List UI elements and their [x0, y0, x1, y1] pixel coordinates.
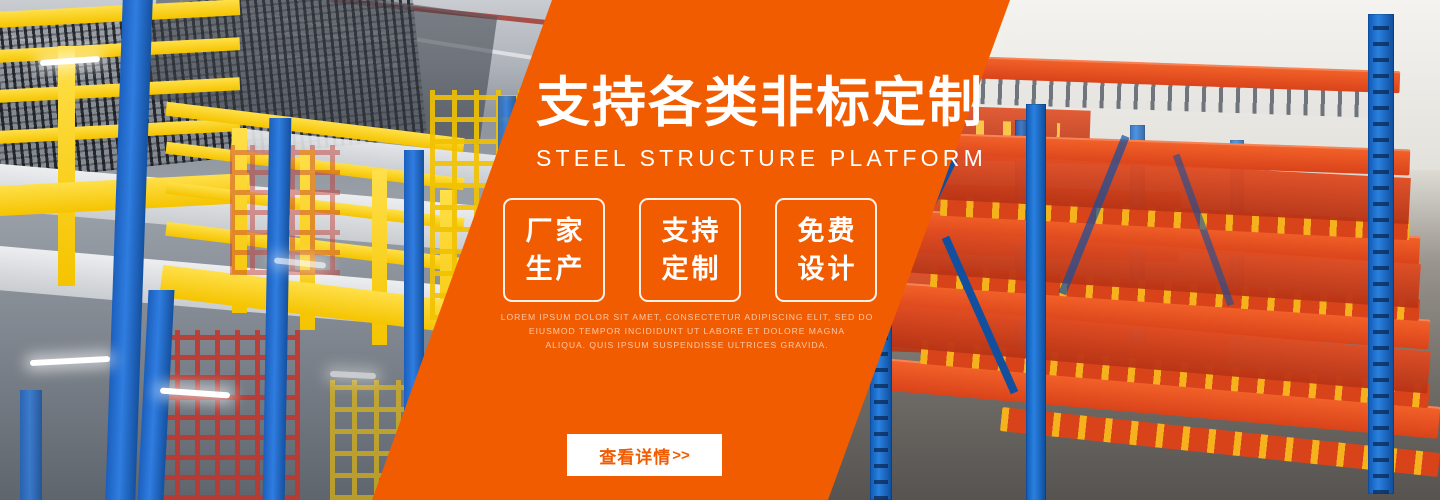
feature-badge-line1: 免费 — [795, 212, 858, 250]
description-line-2: EIUSMOD TEMPOR INCIDIDUNT UT LABORE ET D… — [492, 325, 882, 339]
feature-badge-line1: 厂家 — [523, 212, 586, 250]
banner-content: 支持各类非标定制 STEEL STRUCTURE PLATFORM 厂家 生产 … — [0, 0, 1440, 500]
feature-badge-line1: 支持 — [659, 212, 722, 250]
feature-badge-custom-support: 支持 定制 — [639, 198, 741, 302]
feature-badge-free-design: 免费 设计 — [775, 198, 877, 302]
feature-badge-list: 厂家 生产 支持 定制 免费 设计 — [503, 198, 877, 302]
promo-banner: 支持各类非标定制 STEEL STRUCTURE PLATFORM 厂家 生产 … — [0, 0, 1440, 500]
feature-badge-line2: 定制 — [659, 250, 722, 288]
view-details-label: 查看详情 — [599, 443, 671, 468]
feature-badge-line2: 生产 — [523, 250, 586, 288]
feature-badge-line2: 设计 — [795, 250, 858, 288]
chevron-right-icon: >> — [672, 447, 690, 464]
description-line-1: LOREM IPSUM DOLOR SIT AMET, CONSECTETUR … — [492, 311, 882, 325]
page-title: 支持各类非标定制 — [536, 74, 966, 132]
feature-badge-manufacturer-production: 厂家 生产 — [503, 198, 605, 302]
view-details-button[interactable]: 查看详情 >> — [567, 434, 722, 476]
description-line-3: ALIQUA. QUIS IPSUM SUSPENDISSE ULTRICES … — [492, 339, 882, 353]
description-paragraph: LOREM IPSUM DOLOR SIT AMET, CONSECTETUR … — [492, 311, 882, 353]
subtitle: STEEL STRUCTURE PLATFORM — [536, 145, 966, 172]
